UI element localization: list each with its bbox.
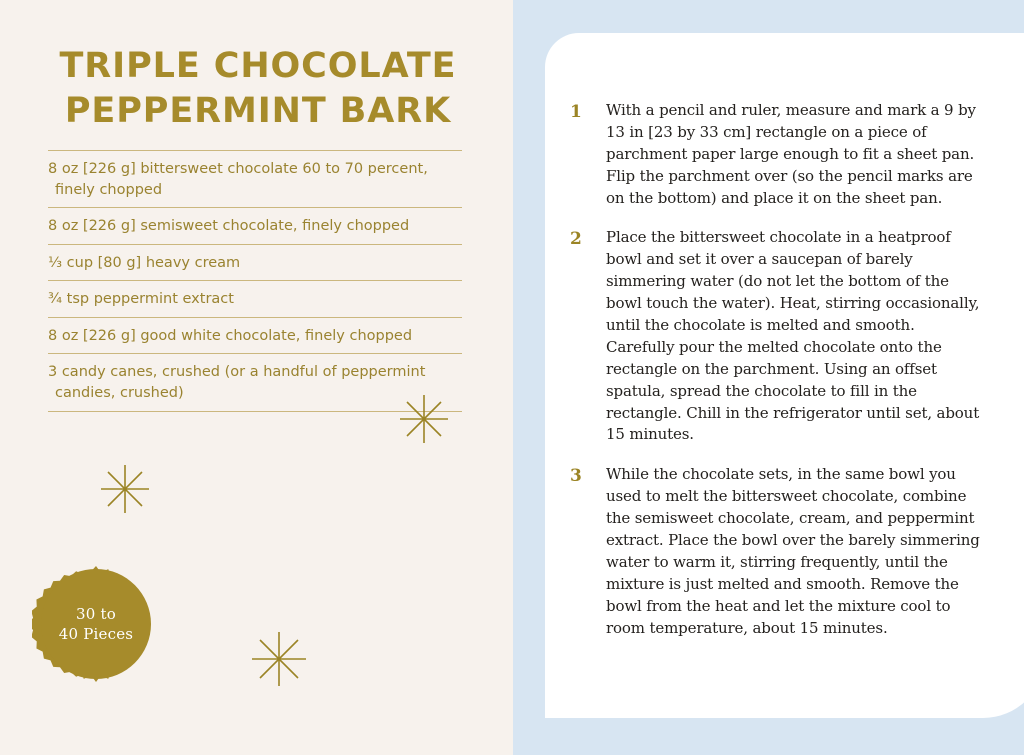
yield-badge: 30 to 40 Pieces — [32, 560, 160, 688]
step-number: 3 — [570, 464, 606, 489]
step-text: With a pencil and ruler, measure and mar… — [606, 100, 985, 209]
eight-point-star-icon — [398, 393, 450, 445]
ingredient-item: ¾ tsp peppermint extract — [48, 280, 462, 317]
instruction-step: 3 While the chocolate sets, in the same … — [570, 464, 985, 639]
ingredient-item: 8 oz [226 g] good white chocolate, finel… — [48, 317, 462, 354]
page-title-line-2: PEPPERMINT BARK — [65, 91, 451, 131]
recipe-left-column: TRIPLE CHOCOLATE PEPPERMINT BARK 8 oz [2… — [0, 0, 513, 755]
yield-line-1: 30 to — [76, 604, 116, 624]
instruction-step: 1 With a pencil and ruler, measure and m… — [570, 100, 985, 209]
ingredients-list: 8 oz [226 g] bittersweet chocolate 60 to… — [48, 150, 462, 412]
ingredient-item: ⅓ cup [80 g] heavy cream — [48, 244, 462, 281]
eight-point-star-icon — [250, 630, 308, 688]
instruction-step: 2 Place the bittersweet chocolate in a h… — [570, 227, 985, 446]
step-number: 2 — [570, 227, 606, 252]
ingredient-item: 8 oz [226 g] semisweet chocolate, finely… — [48, 207, 462, 244]
ingredient-item: 8 oz [226 g] bittersweet chocolate 60 to… — [48, 150, 462, 207]
yield-line-2: 40 Pieces — [59, 624, 133, 644]
page-title-line-1: TRIPLE CHOCOLATE — [60, 46, 457, 86]
eight-point-star-icon — [99, 463, 151, 515]
step-text: Place the bittersweet chocolate in a hea… — [606, 227, 985, 446]
step-number: 1 — [570, 100, 606, 125]
recipe-page: TRIPLE CHOCOLATE PEPPERMINT BARK 8 oz [2… — [0, 0, 1024, 755]
yield-label: 30 to 40 Pieces — [32, 560, 160, 688]
step-text: While the chocolate sets, in the same bo… — [606, 464, 985, 639]
instruction-steps-list: 1 With a pencil and ruler, measure and m… — [570, 100, 985, 657]
page-title: TRIPLE CHOCOLATE PEPPERMINT BARK — [48, 44, 468, 134]
